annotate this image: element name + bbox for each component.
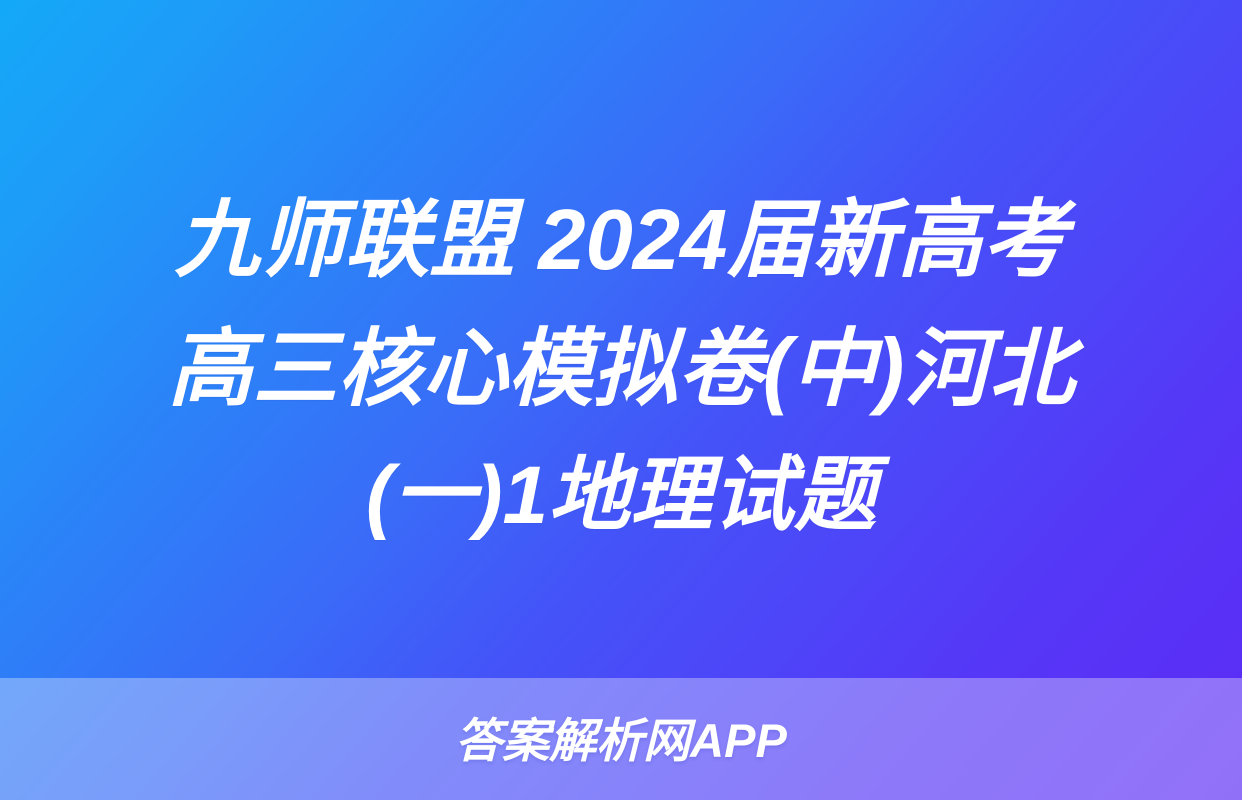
title-line-2: 高三核心模拟卷(中)河北 (60, 305, 1182, 434)
title-line-1: 九师联盟 2024届新高考 (60, 176, 1182, 305)
cover-page: 九师联盟 2024届新高考 高三核心模拟卷(中)河北 (一)1地理试题 答案解析… (0, 0, 1242, 800)
cover-title: 九师联盟 2024届新高考 高三核心模拟卷(中)河北 (一)1地理试题 (0, 176, 1242, 559)
watermark-band: 答案解析网APP (0, 678, 1242, 800)
watermark-label: 答案解析网APP (455, 717, 787, 764)
title-line-3: (一)1地理试题 (60, 434, 1182, 559)
